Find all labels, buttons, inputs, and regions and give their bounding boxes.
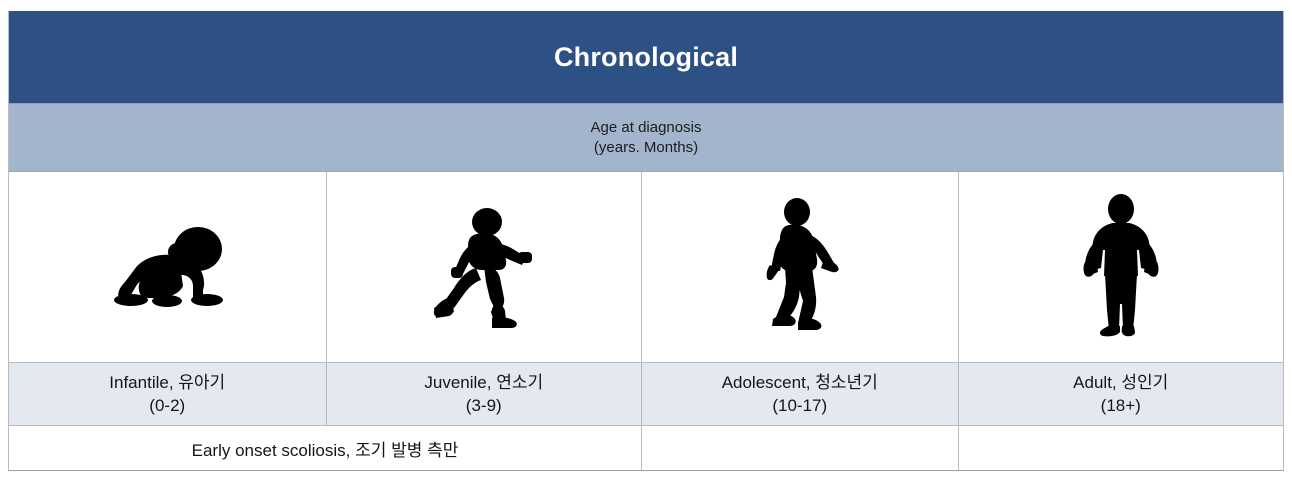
icon-cell-juvenile bbox=[326, 172, 642, 362]
subheader-bar: Age at diagnosis (years. Months) bbox=[9, 103, 1283, 172]
icon-cell-adolescent bbox=[641, 172, 958, 362]
label-cell-adolescent: Adolescent, 청소년기 (10-17) bbox=[641, 363, 958, 425]
label-cell-adult: Adult, 성인기 (18+) bbox=[958, 363, 1283, 425]
label-text-adult: Adult, 성인기 bbox=[1073, 371, 1168, 394]
age-range-juvenile: (3-9) bbox=[466, 394, 502, 417]
table-title-bar: Chronological bbox=[9, 11, 1283, 103]
chronological-classification-table: Chronological Age at diagnosis (years. M… bbox=[8, 11, 1284, 471]
label-cell-infantile: Infantile, 유아기 (0-2) bbox=[9, 363, 326, 425]
label-text-adolescent: Adolescent, 청소년기 bbox=[722, 371, 878, 394]
subheader-line-1: Age at diagnosis bbox=[591, 118, 702, 138]
walking-adolescent-icon bbox=[754, 197, 846, 337]
note-cell-adult bbox=[958, 426, 1283, 470]
age-range-adolescent: (10-17) bbox=[772, 394, 827, 417]
page-title: Chronological bbox=[554, 42, 738, 73]
icon-cell-infantile bbox=[9, 172, 326, 362]
running-child-icon bbox=[432, 204, 536, 330]
label-cell-juvenile: Juvenile, 연소기 (3-9) bbox=[326, 363, 642, 425]
label-row: Infantile, 유아기 (0-2) Juvenile, 연소기 (3-9)… bbox=[9, 362, 1283, 425]
crawling-baby-icon bbox=[107, 224, 227, 310]
standing-adult-icon bbox=[1077, 194, 1165, 340]
label-text-juvenile: Juvenile, 연소기 bbox=[424, 371, 543, 394]
icon-row bbox=[9, 172, 1283, 362]
age-range-infantile: (0-2) bbox=[149, 394, 185, 417]
label-text-infantile: Infantile, 유아기 bbox=[109, 371, 225, 394]
subheader-line-2: (years. Months) bbox=[594, 138, 698, 158]
age-range-adult: (18+) bbox=[1101, 394, 1141, 417]
note-text-early-onset: Early onset scoliosis, 조기 발병 측만 bbox=[192, 436, 459, 461]
note-cell-adolescent bbox=[641, 426, 958, 470]
note-cell-early-onset: Early onset scoliosis, 조기 발병 측만 bbox=[9, 426, 641, 470]
note-row: Early onset scoliosis, 조기 발병 측만 bbox=[9, 425, 1283, 470]
icon-cell-adult bbox=[958, 172, 1283, 362]
